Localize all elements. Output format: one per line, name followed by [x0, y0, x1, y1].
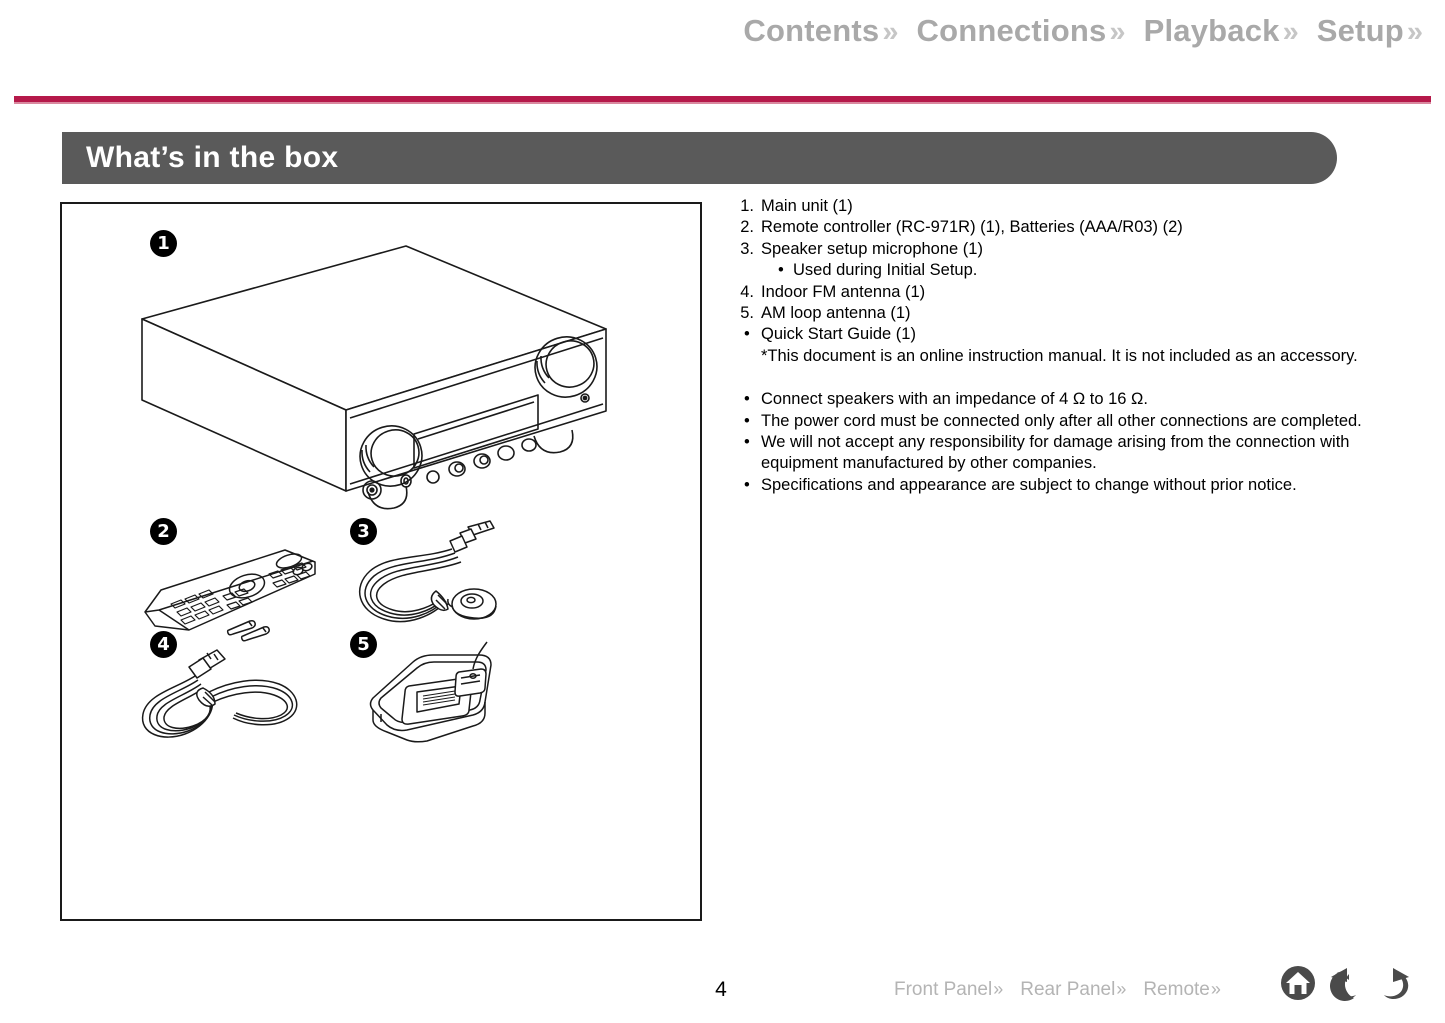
footer-link-label: Rear Panel [1020, 979, 1115, 1001]
list-item-label: Specifications and appearance are subjec… [761, 475, 1404, 496]
nav-item-label: Connections [916, 13, 1106, 49]
footer-link-remote[interactable]: Remote » [1143, 979, 1221, 1001]
indoor-fm-antenna-illustration [137, 642, 327, 752]
top-navigation-bar: Contents » Connections » Playback » Setu… [0, 0, 1445, 62]
chevron-double-right-icon: » [993, 979, 1003, 1000]
list-item-marker: 5. [736, 303, 761, 324]
nav-item-connections[interactable]: Connections » [916, 13, 1125, 49]
illustration-panel: 1 2 3 4 5 [60, 202, 702, 921]
list-item-label: We will not accept any responsibility fo… [761, 432, 1404, 475]
list-item: 1. Main unit (1) [736, 196, 1404, 217]
list-item-label: AM loop antenna (1) [761, 303, 1404, 324]
chevron-double-right-icon: » [882, 16, 898, 49]
nav-item-label: Playback [1144, 13, 1280, 49]
quick-start-item: • Quick Start Guide (1) [736, 324, 1404, 345]
nav-item-label: Setup [1317, 13, 1404, 49]
list-item: 5. AM loop antenna (1) [736, 303, 1404, 324]
list-item: • The power cord must be connected only … [736, 411, 1404, 432]
nav-item-playback[interactable]: Playback » [1144, 13, 1299, 49]
notice-list: • Connect speakers with an impedance of … [736, 389, 1404, 496]
list-item-label: Main unit (1) [761, 196, 1404, 217]
bullet-dot-icon: • [744, 432, 761, 453]
chevron-double-right-icon: » [1109, 16, 1125, 49]
nav-item-label: Contents [743, 13, 879, 49]
header-divider-rule-light [14, 102, 1431, 104]
back-arrow-icon[interactable] [1325, 962, 1367, 1004]
list-item: • We will not accept any responsibility … [736, 432, 1404, 475]
list-item: • Specifications and appearance are subj… [736, 475, 1404, 496]
am-loop-antenna-illustration [347, 636, 527, 751]
page-number: 4 [700, 978, 742, 1002]
list-item-label: Connect speakers with an impedance of 4 … [761, 389, 1404, 410]
contents-text-column: 1. Main unit (1) 2. Remote controller (R… [736, 196, 1404, 496]
chevron-double-right-icon: » [1211, 979, 1221, 1000]
quick-start-note: *This document is an online instruction … [736, 346, 1404, 367]
list-item: 3. Speaker setup microphone (1) [736, 239, 1404, 260]
list-item-marker: 4. [736, 282, 761, 303]
bullet-dot-icon: • [744, 475, 761, 496]
list-item-label: The power cord must be connected only af… [761, 411, 1404, 432]
bullet-dot-icon: • [778, 260, 793, 281]
main-unit-illustration [114, 234, 634, 524]
footer-links: Front Panel » Rear Panel » Remote » [894, 979, 1238, 1001]
footer-link-label: Front Panel [894, 979, 992, 1001]
bullet-dot-icon: • [744, 411, 761, 432]
sub-list-item: • Used during Initial Setup. [736, 260, 1404, 281]
chevron-double-right-icon: » [1116, 979, 1126, 1000]
footer-icon-group [1277, 962, 1421, 1004]
list-item-label: Indoor FM antenna (1) [761, 282, 1404, 303]
speaker-setup-microphone-illustration [340, 519, 520, 639]
list-item: 4. Indoor FM antenna (1) [736, 282, 1404, 303]
forward-arrow-icon[interactable] [1373, 962, 1415, 1004]
list-item-label: Remote controller (RC-971R) (1), Batteri… [761, 217, 1404, 238]
top-nav-items: Contents » Connections » Playback » Setu… [743, 13, 1423, 49]
list-item: • Connect speakers with an impedance of … [736, 389, 1404, 410]
quick-start-label: Quick Start Guide (1) [761, 324, 1404, 345]
section-title-bar: What’s in the box [62, 132, 1337, 184]
footer-link-front-panel[interactable]: Front Panel » [894, 979, 1003, 1001]
bullet-dot-icon: • [744, 324, 761, 345]
list-item-marker: 2. [736, 217, 761, 238]
list-item-label: Speaker setup microphone (1) [761, 239, 1404, 260]
home-icon[interactable] [1277, 962, 1319, 1004]
bullet-dot-icon: • [744, 389, 761, 410]
footer-link-rear-panel[interactable]: Rear Panel » [1020, 979, 1126, 1001]
nav-item-contents[interactable]: Contents » [743, 13, 898, 49]
list-item: 2. Remote controller (RC-971R) (1), Batt… [736, 217, 1404, 238]
list-item-marker: 3. [736, 239, 761, 260]
batteries [228, 621, 270, 641]
chevron-double-right-icon: » [1407, 16, 1423, 49]
footer-link-label: Remote [1143, 979, 1210, 1001]
nav-item-setup[interactable]: Setup » [1317, 13, 1423, 49]
chevron-double-right-icon: » [1283, 16, 1299, 49]
remote-controller-illustration [137, 534, 347, 644]
sub-list-item-label: Used during Initial Setup. [793, 260, 977, 281]
list-item-marker: 1. [736, 196, 761, 217]
page-title: What’s in the box [62, 141, 338, 175]
